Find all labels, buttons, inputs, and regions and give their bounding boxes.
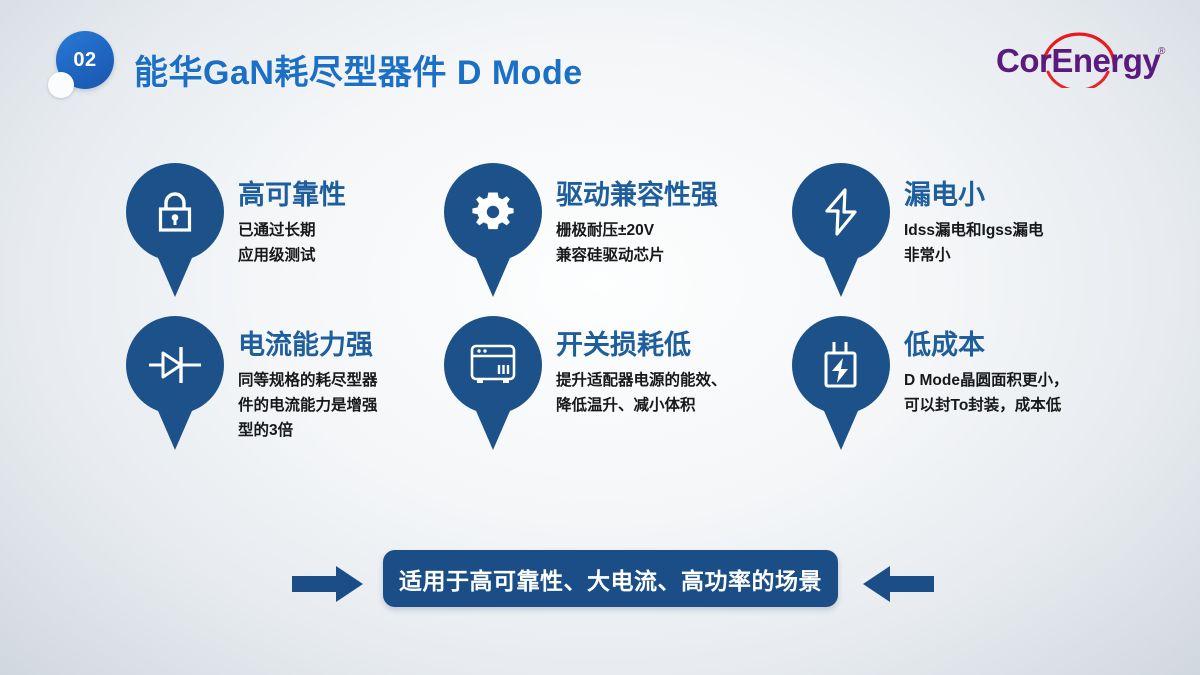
feature-text-block: 漏电小 Idss漏电和Igss漏电 非常小 [890, 163, 1044, 268]
feature-body: D Mode晶圆面积更小， 可以封To封装，成本低 [904, 368, 1068, 418]
feature-title: 低成本 [904, 330, 1068, 360]
arrow-right-icon [292, 564, 364, 604]
feature-body-line: 型的3倍 [238, 418, 378, 443]
lightning-bolt-icon [792, 163, 890, 261]
feature-title: 漏电小 [904, 180, 1044, 210]
feature-card-drive-compatibility[interactable]: 驱动兼容性强 栅极耐压±20V 兼容硅驱动芯片 [444, 163, 792, 297]
feature-body: 同等规格的耗尽型器 件的电流能力是增强 型的3倍 [238, 368, 378, 443]
feature-body: 已通过长期 应用级测试 [238, 218, 346, 268]
svg-text:CorEnergy: CorEnergy [996, 42, 1161, 79]
power-plug-bolt-icon [792, 316, 890, 414]
slide-header: 02 能华GaN耗尽型器件 D Mode CorEnergy ® [0, 0, 1200, 120]
pin-marker [792, 163, 890, 297]
feature-text-block: 高可靠性 已通过长期 应用级测试 [224, 163, 346, 268]
feature-body: 提升适配器电源的能效、 降低温升、减小体积 [556, 368, 727, 418]
feature-body-line: 应用级测试 [238, 243, 346, 268]
section-number-badge: 02 [48, 31, 122, 105]
logo-artwork: CorEnergy ® [986, 26, 1176, 88]
summary-banner[interactable]: 适用于高可靠性、大电流、高功率的场景 [383, 550, 838, 607]
svg-text:®: ® [1158, 46, 1166, 57]
pin-marker [444, 163, 542, 297]
arrow-left-icon [862, 564, 934, 604]
page-title: 能华GaN耗尽型器件 D Mode [134, 45, 583, 94]
feature-body: Idss漏电和Igss漏电 非常小 [904, 218, 1044, 268]
feature-text-block: 电流能力强 同等规格的耗尽型器 件的电流能力是增强 型的3倍 [224, 316, 378, 444]
feature-body-line: 可以封To封装，成本低 [904, 393, 1068, 418]
feature-card-low-switching-loss[interactable]: 开关损耗低 提升适配器电源的能效、 降低温升、减小体积 [444, 316, 792, 450]
feature-body-line: 同等规格的耗尽型器 [238, 368, 378, 393]
feature-card-reliability[interactable]: 高可靠性 已通过长期 应用级测试 [126, 163, 444, 297]
feature-body-line: 栅极耐压±20V [556, 218, 718, 243]
badge-number-label: 02 [73, 50, 96, 70]
feature-row-2: 电流能力强 同等规格的耗尽型器 件的电流能力是增强 型的3倍 [126, 316, 1136, 450]
feature-body-line: 件的电流能力是增强 [238, 393, 378, 418]
feature-title: 驱动兼容性强 [556, 180, 718, 210]
feature-title: 高可靠性 [238, 180, 346, 210]
feature-body-line: D Mode晶圆面积更小， [904, 368, 1068, 393]
summary-banner-zone: 适用于高可靠性、大电流、高功率的场景 [0, 550, 1200, 622]
gear-icon [444, 163, 542, 261]
feature-body-line: 非常小 [904, 243, 1044, 268]
feature-card-low-cost[interactable]: 低成本 D Mode晶圆面积更小， 可以封To封装，成本低 [792, 316, 1122, 450]
feature-body-line: 提升适配器电源的能效、 [556, 368, 727, 393]
feature-card-low-leakage[interactable]: 漏电小 Idss漏电和Igss漏电 非常小 [792, 163, 1122, 297]
feature-text-block: 低成本 D Mode晶圆面积更小， 可以封To封装，成本低 [890, 316, 1068, 418]
feature-title: 开关损耗低 [556, 330, 727, 360]
summary-banner-text: 适用于高可靠性、大电流、高功率的场景 [399, 562, 822, 596]
feature-body-line: 兼容硅驱动芯片 [556, 243, 718, 268]
pin-marker [126, 316, 224, 450]
feature-grid: 高可靠性 已通过长期 应用级测试 [126, 163, 1136, 450]
corenergy-logo: CorEnergy ® [986, 26, 1176, 88]
feature-body-line: Idss漏电和Igss漏电 [904, 218, 1044, 243]
badge-accent-dot [48, 72, 74, 98]
pin-marker [444, 316, 542, 450]
feature-title: 电流能力强 [238, 330, 378, 360]
appliance-icon [444, 316, 542, 414]
feature-card-current-capability[interactable]: 电流能力强 同等规格的耗尽型器 件的电流能力是增强 型的3倍 [126, 316, 444, 450]
slide-canvas: 02 能华GaN耗尽型器件 D Mode CorEnergy ® [0, 0, 1200, 675]
diode-icon [126, 316, 224, 414]
feature-text-block: 开关损耗低 提升适配器电源的能效、 降低温升、减小体积 [542, 316, 727, 418]
feature-body-line: 已通过长期 [238, 218, 346, 243]
lock-icon [126, 163, 224, 261]
feature-body: 栅极耐压±20V 兼容硅驱动芯片 [556, 218, 718, 268]
pin-marker [126, 163, 224, 297]
feature-body-line: 降低温升、减小体积 [556, 393, 727, 418]
feature-text-block: 驱动兼容性强 栅极耐压±20V 兼容硅驱动芯片 [542, 163, 718, 268]
pin-marker [792, 316, 890, 450]
feature-row-1: 高可靠性 已通过长期 应用级测试 [126, 163, 1136, 297]
